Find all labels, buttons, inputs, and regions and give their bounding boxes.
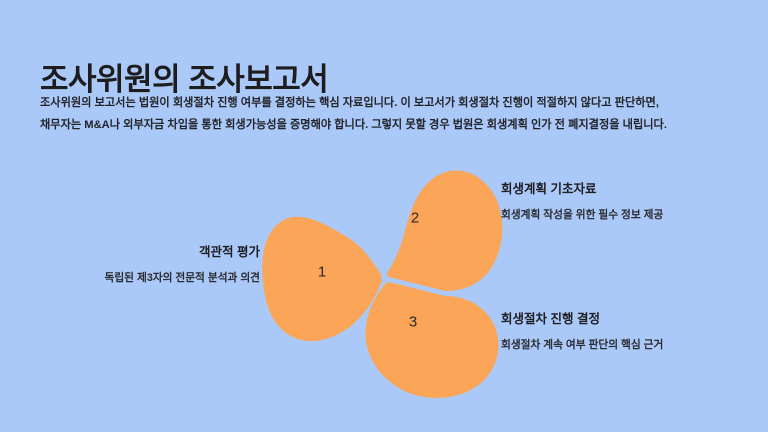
petal-shape-2[interactable] <box>387 171 503 291</box>
callout-title-3: 회생절차 진행 결정 <box>501 310 663 328</box>
intro-paragraph: 조사위원의 보고서는 법원이 회생절차 진행 여부를 결정하는 핵심 자료입니다… <box>40 92 740 136</box>
callout-petal-2: 회생계획 기초자료 회생계획 작성을 위한 필수 정보 제공 <box>501 180 663 223</box>
petal-number-2: 2 <box>411 210 419 227</box>
slide-canvas: 조사위원의 조사보고서 조사위원의 보고서는 법원이 회생절차 진행 여부를 결… <box>0 0 768 432</box>
callout-description-2: 회생계획 작성을 위한 필수 정보 제공 <box>501 207 663 223</box>
callout-title-1: 객관적 평가 <box>105 243 260 261</box>
callout-description-1: 독립된 제3자의 전문적 분석과 의견 <box>105 270 260 286</box>
petal-shape-3[interactable] <box>365 282 498 398</box>
callout-title-2: 회생계획 기초자료 <box>501 180 663 198</box>
three-petal-diagram: 1 2 3 <box>255 155 505 400</box>
petal-number-3: 3 <box>409 314 417 331</box>
intro-paragraph-line-2: 채무자는 M&A나 외부자금 차입을 통한 회생가능성을 증명해야 합니다. 그… <box>40 114 740 136</box>
callout-description-3: 회생절차 계속 여부 판단의 핵심 근거 <box>501 337 663 353</box>
petal-number-1: 1 <box>318 264 326 281</box>
callout-petal-3: 회생절차 진행 결정 회생절차 계속 여부 판단의 핵심 근거 <box>501 310 663 353</box>
callout-petal-1: 객관적 평가 독립된 제3자의 전문적 분석과 의견 <box>105 243 260 286</box>
intro-paragraph-line-1: 조사위원의 보고서는 법원이 회생절차 진행 여부를 결정하는 핵심 자료입니다… <box>40 92 740 114</box>
